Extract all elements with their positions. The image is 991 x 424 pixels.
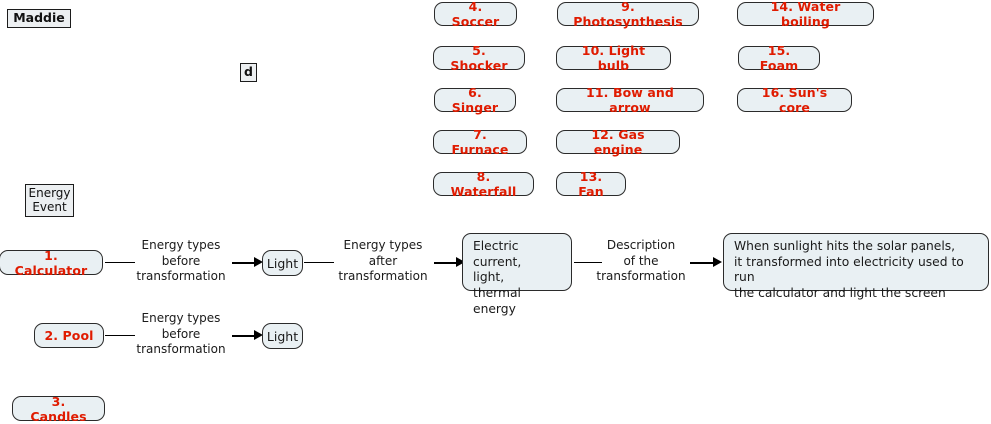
row1-arrow-2-line: [434, 262, 457, 264]
row2-event-box[interactable]: 2. Pool: [34, 323, 104, 348]
row1-connector-2: [304, 262, 334, 263]
row1-event-box[interactable]: 1. Calculator: [0, 250, 103, 275]
bank-item-15[interactable]: 15. Foam: [738, 46, 820, 70]
row2-connector-1: [105, 335, 135, 336]
bank-item-7[interactable]: 7. Furnace: [433, 130, 527, 154]
bank-item-14[interactable]: 14. Water boiling: [737, 2, 874, 26]
row1-connector-1: [105, 262, 135, 263]
row1-node-energy-types[interactable]: Electric current, light, thermal energy: [462, 233, 572, 291]
bank-item-10[interactable]: 10. Light bulb: [556, 46, 671, 70]
bank-item-8[interactable]: 8. Waterfall: [433, 172, 534, 196]
letter-marker-chip[interactable]: d: [240, 63, 257, 82]
bank-item-13[interactable]: 13. Fan: [556, 172, 626, 196]
bank-item-12[interactable]: 12. Gas engine: [556, 130, 680, 154]
row3-event-box[interactable]: 3. Candles: [12, 396, 105, 421]
bank-item-4[interactable]: 4. Soccer: [434, 2, 517, 26]
bank-item-5[interactable]: 5. Shocker: [433, 46, 525, 70]
row2-node-light[interactable]: Light: [262, 323, 303, 349]
student-name-chip[interactable]: Maddie: [7, 9, 71, 28]
row1-node-description[interactable]: When sunlight hits the solar panels, it …: [723, 233, 989, 291]
bank-item-16[interactable]: 16. Sun's core: [737, 88, 852, 112]
row2-edge-label-1: Energy types before transformation: [133, 311, 229, 358]
row1-edge-label-1: Energy types before transformation: [133, 238, 229, 285]
worksheet-canvas: Maddie d Energy Event 4. Soccer 5. Shock…: [0, 0, 991, 423]
row1-arrow-3-line: [690, 262, 714, 264]
row1-arrow-1-line: [232, 262, 255, 264]
row1-edge-label-3: Description of the transformation: [593, 238, 689, 285]
bank-item-9[interactable]: 9. Photosynthesis: [557, 2, 699, 26]
row1-node-light[interactable]: Light: [262, 250, 303, 276]
row1-edge-label-2: Energy types after transformation: [335, 238, 431, 285]
row2-arrow-1-line: [232, 335, 255, 337]
energy-event-header: Energy Event: [25, 184, 74, 217]
bank-item-11[interactable]: 11. Bow and arrow: [556, 88, 704, 112]
row1-arrow-3-head: [713, 257, 722, 267]
bank-item-6[interactable]: 6. Singer: [434, 88, 516, 112]
